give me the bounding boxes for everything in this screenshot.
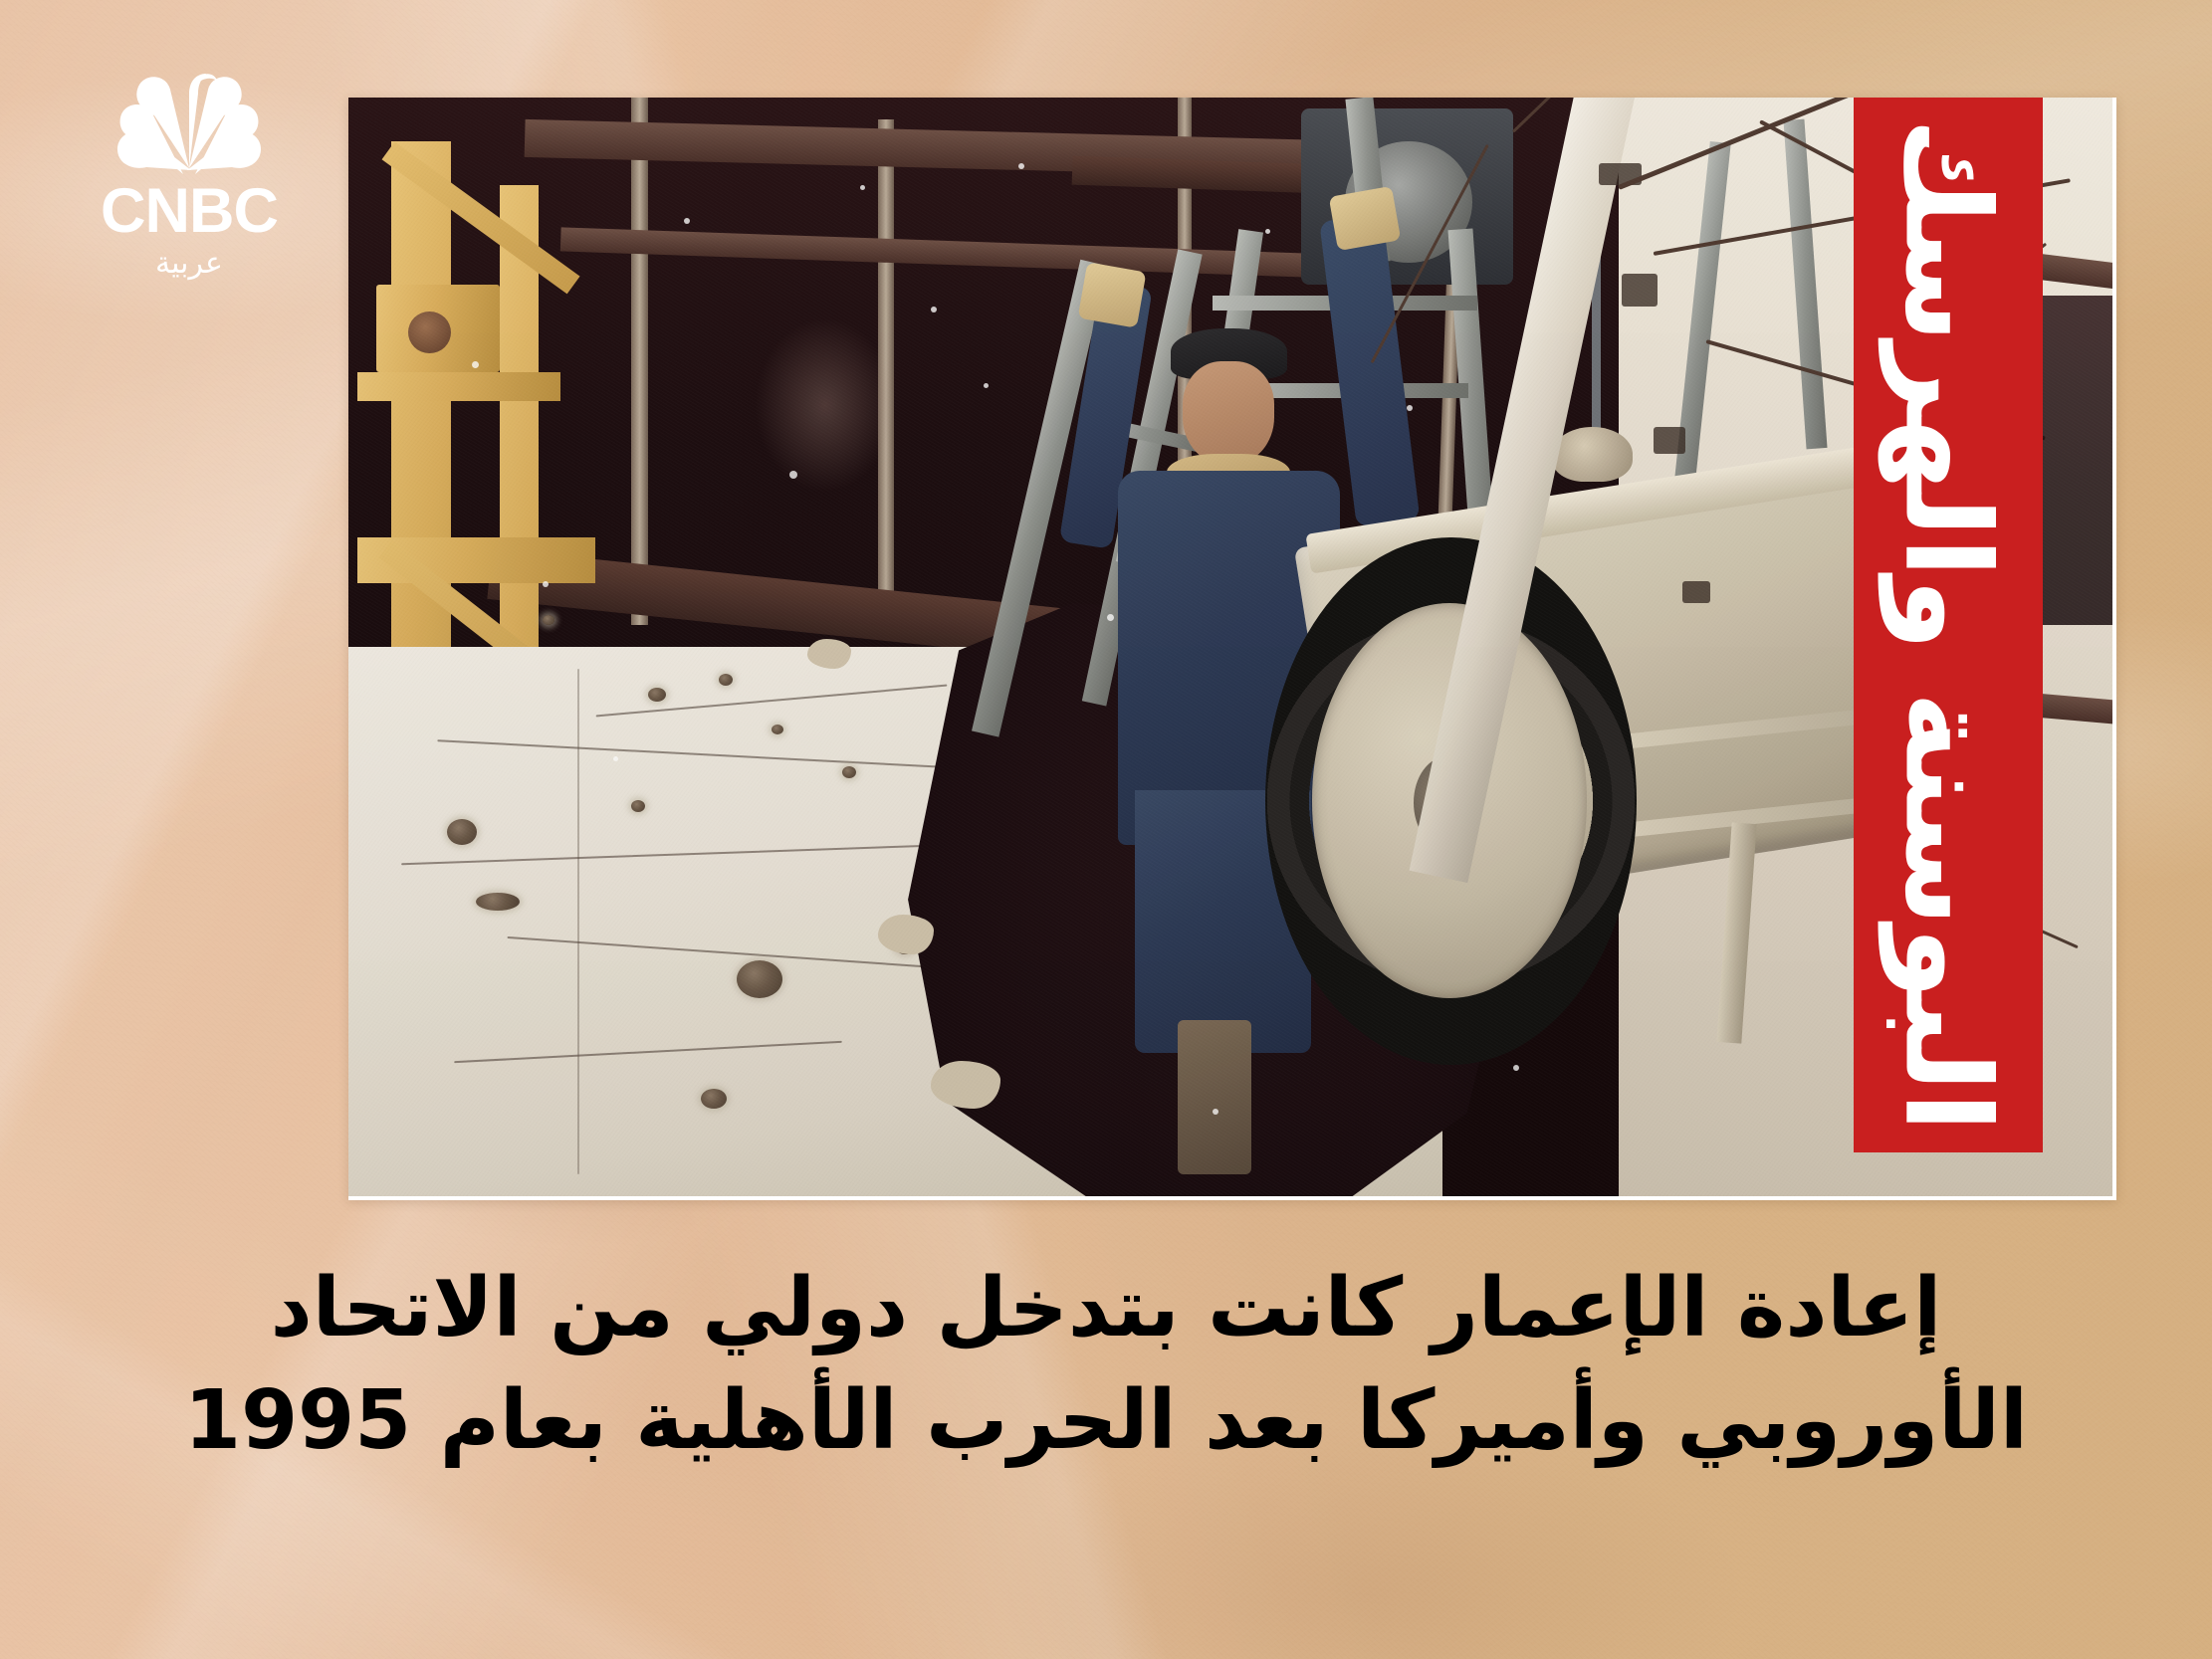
window-mullion [631,98,649,625]
bullet-hole [719,674,733,686]
cnbc-arabic-wordmark: عربية [75,246,304,281]
bullet-hole [701,1089,727,1109]
worker-glove [1328,186,1400,251]
worker-face [1183,361,1274,465]
bullet-hole [476,893,520,911]
news-photo [348,98,2112,1196]
cnbc-arabia-logo: CNBC عربية [75,72,304,291]
worker-glove [1078,262,1147,328]
caption-block: إعادة الإعمار كانت بتدخل دولي من الاتحاد… [60,1252,2152,1477]
snow-fleck [984,383,989,388]
bullet-hole [543,615,554,625]
bullet-hole [737,960,782,998]
hoist-counterweight [1552,427,1634,482]
cnbc-peacock-icon [114,72,264,176]
lens-glare [755,317,896,494]
caption-line-1: إعادة الإعمار كانت بتدخل دولي من الاتحاد [60,1252,2152,1364]
birch-bark-marking [1622,274,1657,307]
crane-crossbeam [357,372,560,401]
bullet-hole [631,800,645,812]
bullet-hole [447,819,477,845]
caption-line-2: الأوروبي وأميركا بعد الحرب الأهلية بعام … [60,1364,2152,1477]
snow-fleck [472,361,479,368]
worker-leg [1178,1020,1251,1174]
cnbc-wordmark: CNBC [75,182,304,242]
birch-bark-marking [1654,427,1685,453]
snow-fleck [931,307,937,312]
snow-fleck [1107,614,1114,621]
photo-scene [348,98,2112,1196]
birch-bark-marking [1682,581,1710,603]
crane-pulley-wheel [408,311,451,353]
snow-fleck [543,581,549,587]
country-label-text: البوسنة والهرسك [1889,117,2007,1132]
news-photo-frame [348,98,2116,1200]
snow-fleck [1513,1065,1519,1071]
country-label-banner: البوسنة والهرسك [1854,98,2043,1152]
snow-fleck [1213,1109,1218,1115]
